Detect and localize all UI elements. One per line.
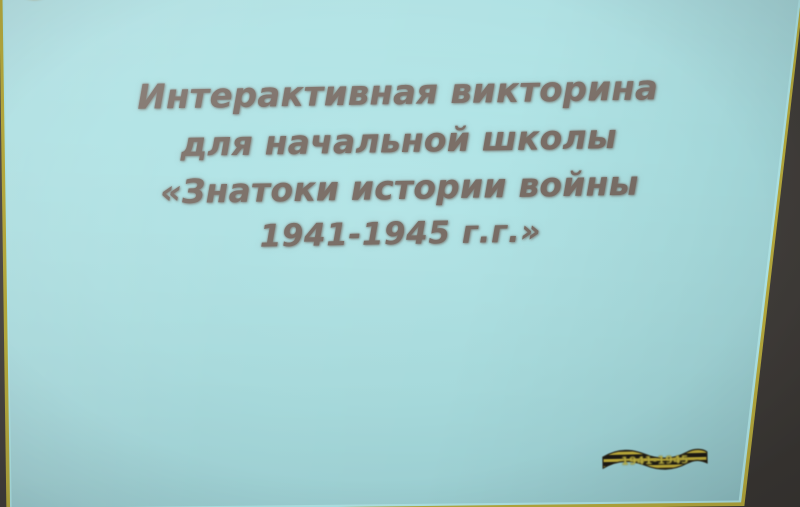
medal-ribbon-svg [4,0,154,20]
projected-slide-photo: Интерактивная викторина для начальной шк… [0,0,800,507]
slide-title: Интерактивная викторина для начальной шк… [52,64,745,265]
presentation-slide: Интерактивная викторина для начальной шк… [0,0,800,507]
medal-ribbon-icon [4,0,154,20]
ribbon-years-label: 1941-1945 [601,446,710,475]
medal-ribbon-art [4,0,154,20]
st-george-ribbon-icon: 1941-1945 [601,446,710,475]
